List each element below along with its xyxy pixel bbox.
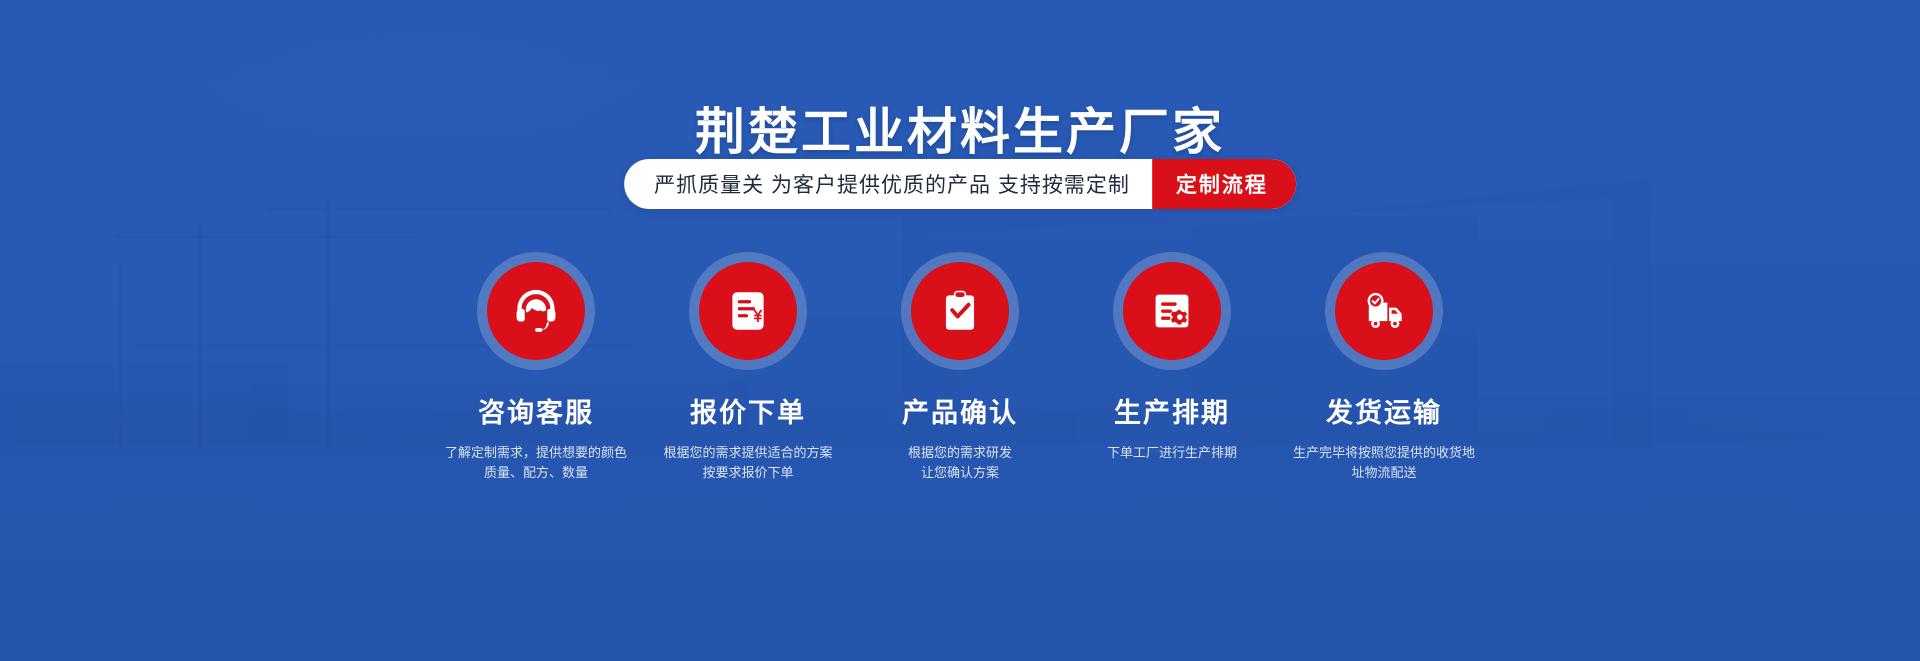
step-description-line1: 根据您的需求研发 (908, 443, 1012, 463)
icon-halo-ring (689, 252, 807, 370)
step-description-line1: 生产完毕将按照您提供的收货地 (1293, 443, 1475, 463)
invoice-yuan-icon (723, 286, 773, 336)
step-description: 生产完毕将按照您提供的收货地 址物流配送 (1293, 443, 1475, 483)
clipboard-check-icon (935, 286, 985, 336)
promo-banner: 荆楚工业材料生产厂家 严抓质量关 为客户提供优质的产品 支持按需定制 定制流程 (0, 0, 1920, 661)
delivery-truck-check-icon (1357, 284, 1411, 338)
document-gear-icon (1147, 286, 1197, 336)
process-steps: 咨询客服 了解定制需求，提供想要的颜色 质量、配方、数量 (0, 252, 1920, 483)
step-description: 根据您的需求提供适合的方案 按要求报价下单 (663, 443, 832, 483)
step-description-line2: 按要求报价下单 (663, 463, 832, 483)
icon-disc (487, 262, 585, 360)
icon-disc (911, 262, 1009, 360)
step-item-quote[interactable]: 报价下单 根据您的需求提供适合的方案 按要求报价下单 (642, 252, 854, 483)
banner-content: 荆楚工业材料生产厂家 严抓质量关 为客户提供优质的产品 支持按需定制 定制流程 (0, 0, 1920, 661)
step-item-confirm[interactable]: 产品确认 根据您的需求研发 让您确认方案 (854, 252, 1066, 483)
step-description: 根据您的需求研发 让您确认方案 (908, 443, 1012, 483)
step-description: 下单工厂进行生产排期 (1107, 443, 1237, 463)
step-item-delivery[interactable]: 发货运输 生产完毕将按照您提供的收货地 址物流配送 (1278, 252, 1490, 483)
step-title: 发货运输 (1326, 391, 1442, 430)
headset-support-icon (509, 284, 563, 338)
step-description-line1: 下单工厂进行生产排期 (1107, 443, 1237, 463)
icon-disc (1123, 262, 1221, 360)
slogan-pill: 严抓质量关 为客户提供优质的产品 支持按需定制 定制流程 (624, 159, 1296, 209)
slogan-text: 严抓质量关 为客户提供优质的产品 支持按需定制 (624, 169, 1152, 199)
step-description: 了解定制需求，提供想要的颜色 质量、配方、数量 (445, 443, 627, 483)
step-description-line2: 质量、配方、数量 (445, 463, 627, 483)
icon-halo-ring (901, 252, 1019, 370)
icon-halo-ring (1325, 252, 1443, 370)
custom-process-button[interactable]: 定制流程 (1152, 159, 1296, 209)
step-title: 咨询客服 (478, 391, 594, 430)
step-description-line1: 了解定制需求，提供想要的颜色 (445, 443, 627, 463)
step-item-consult[interactable]: 咨询客服 了解定制需求，提供想要的颜色 质量、配方、数量 (430, 252, 642, 483)
step-description-line2: 址物流配送 (1293, 463, 1475, 483)
icon-disc (1335, 262, 1433, 360)
icon-halo-ring (1113, 252, 1231, 370)
step-description-line1: 根据您的需求提供适合的方案 (663, 443, 832, 463)
step-title: 报价下单 (690, 391, 806, 430)
step-description-line2: 让您确认方案 (908, 463, 1012, 483)
icon-disc (699, 262, 797, 360)
icon-halo-ring (477, 252, 595, 370)
step-item-schedule[interactable]: 生产排期 下单工厂进行生产排期 (1066, 252, 1278, 463)
page-title: 荆楚工业材料生产厂家 (0, 92, 1920, 164)
step-title: 生产排期 (1114, 391, 1230, 430)
step-title: 产品确认 (902, 391, 1018, 430)
